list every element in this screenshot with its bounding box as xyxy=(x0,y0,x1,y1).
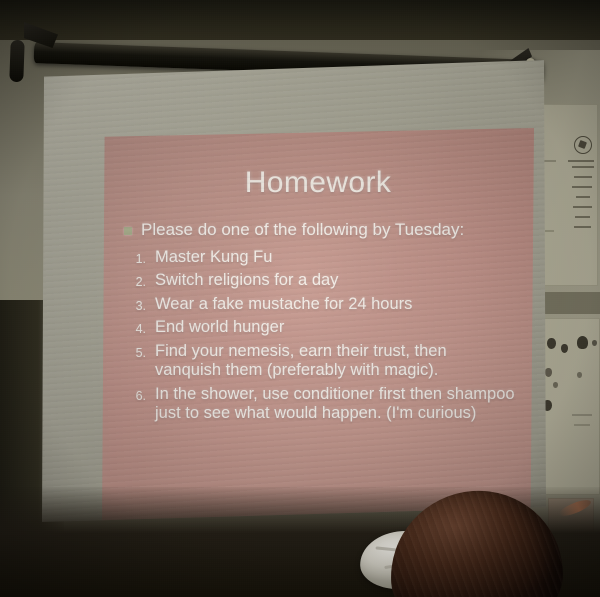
list-item-text: End world hunger xyxy=(155,318,284,337)
list-item: 3. Wear a fake mustache for 24 hours xyxy=(120,295,516,314)
poster-figure-mark xyxy=(592,340,597,346)
list-item: 2. Switch religions for a day xyxy=(120,271,516,290)
projected-slide: Homework Please do one of the following … xyxy=(102,128,534,526)
poster-figure-mark xyxy=(561,344,568,353)
list-item: 1. Master Kung Fu xyxy=(120,248,516,267)
square-bullet-icon xyxy=(124,227,132,235)
screen-fabric: Homework Please do one of the following … xyxy=(42,60,546,522)
poster-figure-mark xyxy=(577,372,582,378)
slide-numbered-list: 1. Master Kung Fu 2. Switch religions fo… xyxy=(120,248,516,428)
poster-text-line xyxy=(572,166,594,168)
list-item-text: Find your nemesis, earn their trust, the… xyxy=(155,342,516,381)
poster-text-line xyxy=(574,226,591,228)
slide-lead-in-text: Please do one of the following by Tuesda… xyxy=(141,220,464,240)
list-item: 6. In the shower, use conditioner first … xyxy=(120,385,516,424)
poster-text-line xyxy=(568,160,594,162)
poster-logo-icon xyxy=(574,136,592,154)
slide-title: Homework xyxy=(102,166,534,200)
list-item-number: 5. xyxy=(120,342,155,360)
list-item-number: 1. xyxy=(120,248,155,266)
slide-lead-in-row: Please do one of the following by Tuesda… xyxy=(124,220,464,240)
poster-text-line xyxy=(574,176,592,178)
poster-figure-mark xyxy=(577,336,588,349)
poster-text-line xyxy=(575,216,590,218)
roller-end-cap xyxy=(9,40,24,82)
poster-text-line xyxy=(574,424,590,426)
list-item-text: Wear a fake mustache for 24 hours xyxy=(155,295,412,314)
poster-text-line xyxy=(572,414,592,416)
list-item-number: 6. xyxy=(120,385,155,403)
poster-text-line xyxy=(572,186,592,188)
poster-figure-mark xyxy=(553,382,558,388)
list-item: 4. End world hunger xyxy=(120,318,516,337)
poster-text-line xyxy=(576,196,590,198)
list-item-text: Master Kung Fu xyxy=(155,248,272,267)
list-item-number: 3. xyxy=(120,295,155,313)
list-item-number: 2. xyxy=(120,271,155,289)
list-item: 5. Find your nemesis, earn their trust, … xyxy=(120,342,516,381)
list-item-text: In the shower, use conditioner first the… xyxy=(155,385,516,424)
projector-screen-assembly: Homework Please do one of the following … xyxy=(22,36,550,528)
poster-text-line xyxy=(573,206,592,208)
list-item-text: Switch religions for a day xyxy=(155,271,338,290)
classroom-projector-photo: Homework Please do one of the following … xyxy=(0,0,600,597)
list-item-number: 4. xyxy=(120,318,155,336)
